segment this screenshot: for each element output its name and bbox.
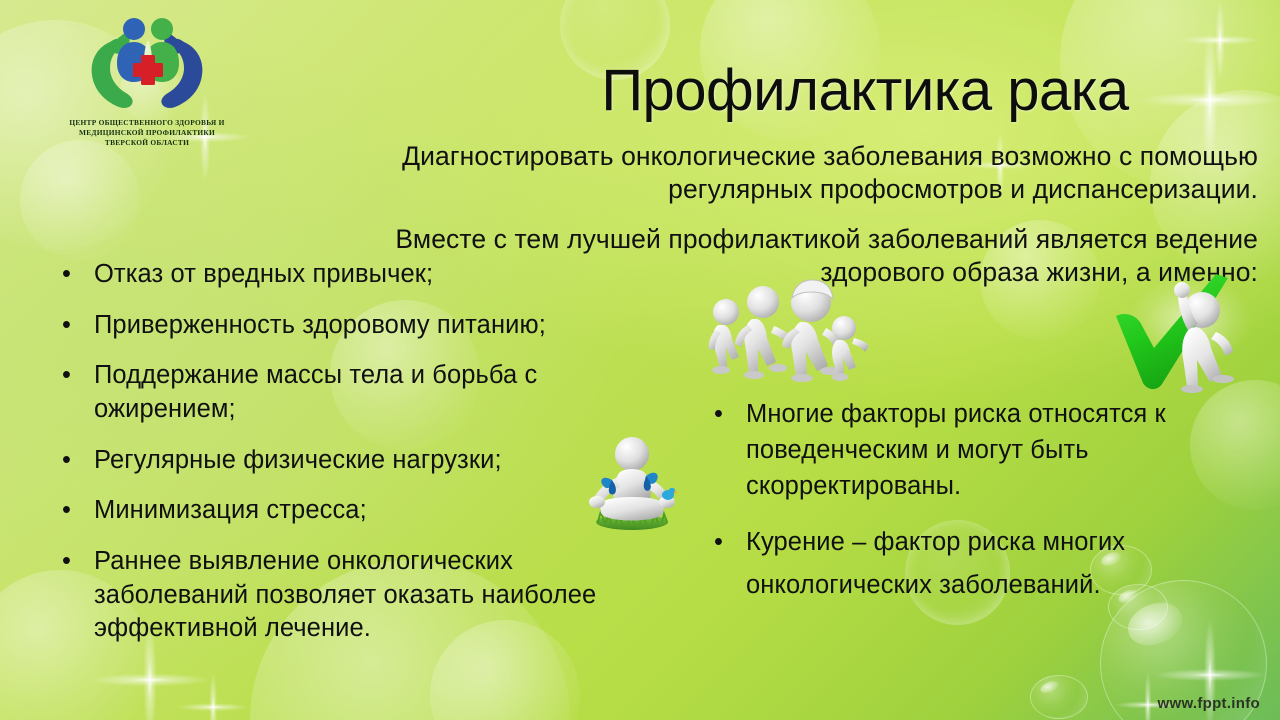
sparkle-decoration — [178, 672, 248, 720]
list-item-label: Курение – фактор риска многих онкологиче… — [746, 528, 1125, 600]
footer-url[interactable]: www.fppt.info — [1158, 695, 1260, 712]
bullet-dot-icon: • — [714, 521, 723, 565]
bullet-dot-icon: • — [62, 494, 71, 528]
logo-caption: ЦЕНТР ОБЩЕСТВЕННОГО ЗДОРОВЬЯ И МЕДИЦИНСК… — [42, 118, 252, 148]
list-item: • Раннее выявление онкологических заболе… — [48, 545, 648, 646]
list-item-label: Приверженность здоровому питанию; — [94, 311, 546, 339]
right-bullet-list: • Многие факторы риска относятся к повед… — [700, 396, 1266, 624]
list-item: • Отказ от вредных привычек; — [48, 258, 648, 292]
bullet-dot-icon: • — [62, 309, 71, 343]
list-item: • Поддержание массы тела и борьба с ожир… — [48, 359, 648, 426]
list-item-label: Минимизация стресса; — [94, 496, 367, 524]
logo-mark-icon — [72, 12, 222, 116]
presentation-slide: ЦЕНТР ОБЩЕСТВЕННОГО ЗДОРОВЬЯ И МЕДИЦИНСК… — [0, 0, 1280, 720]
list-item-label: Регулярные физические нагрузки; — [94, 446, 502, 474]
list-item: • Минимизация стресса; — [48, 494, 648, 528]
list-item-label: Отказ от вредных привычек; — [94, 260, 433, 288]
bokeh-circle — [20, 140, 140, 260]
list-item: • Приверженность здоровому питанию; — [48, 309, 648, 343]
checkmark-figure-icon — [1112, 272, 1262, 402]
list-item: • Регулярные физические нагрузки; — [48, 444, 648, 478]
meditating-figure-icon — [576, 432, 688, 532]
list-item-label: Многие факторы риска относятся к поведен… — [746, 400, 1166, 500]
bubble-decoration — [1030, 675, 1088, 719]
organization-logo: ЦЕНТР ОБЩЕСТВЕННОГО ЗДОРОВЬЯ И МЕДИЦИНСК… — [42, 12, 252, 148]
list-item: • Многие факторы риска относятся к повед… — [700, 396, 1266, 505]
family-group-icon — [704, 276, 876, 384]
bullet-dot-icon: • — [62, 359, 71, 393]
list-item-label: Поддержание массы тела и борьба с ожирен… — [94, 361, 537, 423]
intro-paragraph-1: Диагностировать онкологические заболеван… — [296, 140, 1258, 208]
bullet-dot-icon: • — [62, 444, 71, 478]
bullet-dot-icon: • — [62, 258, 71, 292]
bullet-dot-icon: • — [714, 396, 723, 432]
list-item-label: Раннее выявление онкологических заболева… — [94, 547, 596, 642]
bullet-dot-icon: • — [62, 545, 71, 579]
left-bullet-list: • Отказ от вредных привычек; • Привержен… — [48, 258, 648, 663]
list-item: • Курение – фактор риска многих онкологи… — [700, 521, 1266, 609]
page-title: Профилактика рака — [470, 61, 1260, 122]
